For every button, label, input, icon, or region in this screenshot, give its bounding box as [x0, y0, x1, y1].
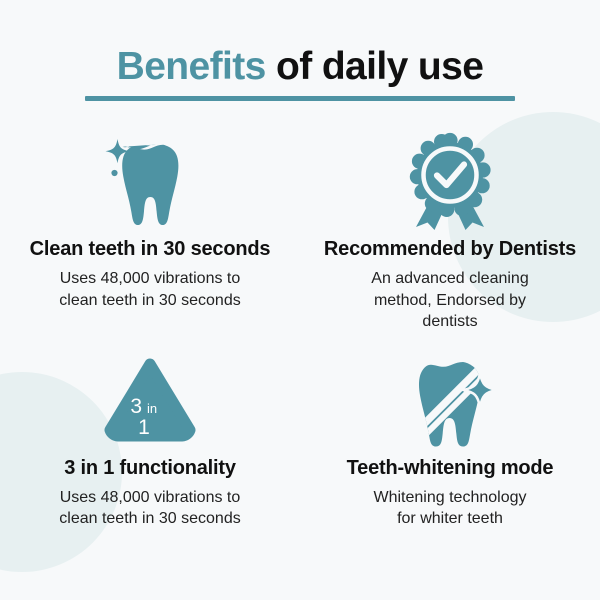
- benefit-card-body: Uses 48,000 vibrations to clean teeth in…: [59, 268, 240, 310]
- benefit-card-recommended: Recommended by Dentists An advanced clea…: [300, 131, 600, 332]
- benefit-card-body: Uses 48,000 vibrations to clean teeth in…: [59, 487, 240, 529]
- benefit-card-body: An advanced cleaning method, Endorsed by…: [371, 268, 528, 331]
- triangle-text-in: in: [147, 401, 157, 416]
- benefit-card-clean-teeth: Clean teeth in 30 seconds Uses 48,000 vi…: [0, 131, 300, 332]
- page-header: Benefits of daily use: [0, 47, 600, 101]
- infographic-page: Benefits of daily use: [0, 0, 600, 600]
- whitening-tooth-icon: [400, 350, 500, 450]
- sparkling-tooth-icon: [98, 131, 202, 231]
- page-title-rest: of daily use: [266, 45, 484, 88]
- triangle-text-one: 1: [138, 416, 150, 439]
- triangle-text-three: 3: [130, 395, 142, 418]
- benefit-card-whitening: Teeth-whitening mode Whitening technolog…: [300, 350, 600, 530]
- page-title: Benefits of daily use: [0, 47, 600, 88]
- title-underline: [85, 96, 515, 101]
- benefits-grid: Clean teeth in 30 seconds Uses 48,000 vi…: [0, 131, 600, 529]
- award-badge-check-icon: [400, 131, 500, 231]
- three-in-one-triangle-icon: 3 in 1: [104, 350, 196, 450]
- benefit-card-three-in-one: 3 in 1 3 in 1 functionality Uses 48,000 …: [0, 350, 300, 530]
- benefit-card-title: Teeth-whitening mode: [347, 456, 554, 480]
- benefit-card-title: 3 in 1 functionality: [64, 456, 236, 480]
- benefit-card-title: Recommended by Dentists: [324, 237, 576, 261]
- benefit-card-title: Clean teeth in 30 seconds: [30, 237, 271, 261]
- benefit-card-body: Whitening technology for whiter teeth: [374, 487, 527, 529]
- page-title-accent: Benefits: [117, 45, 266, 88]
